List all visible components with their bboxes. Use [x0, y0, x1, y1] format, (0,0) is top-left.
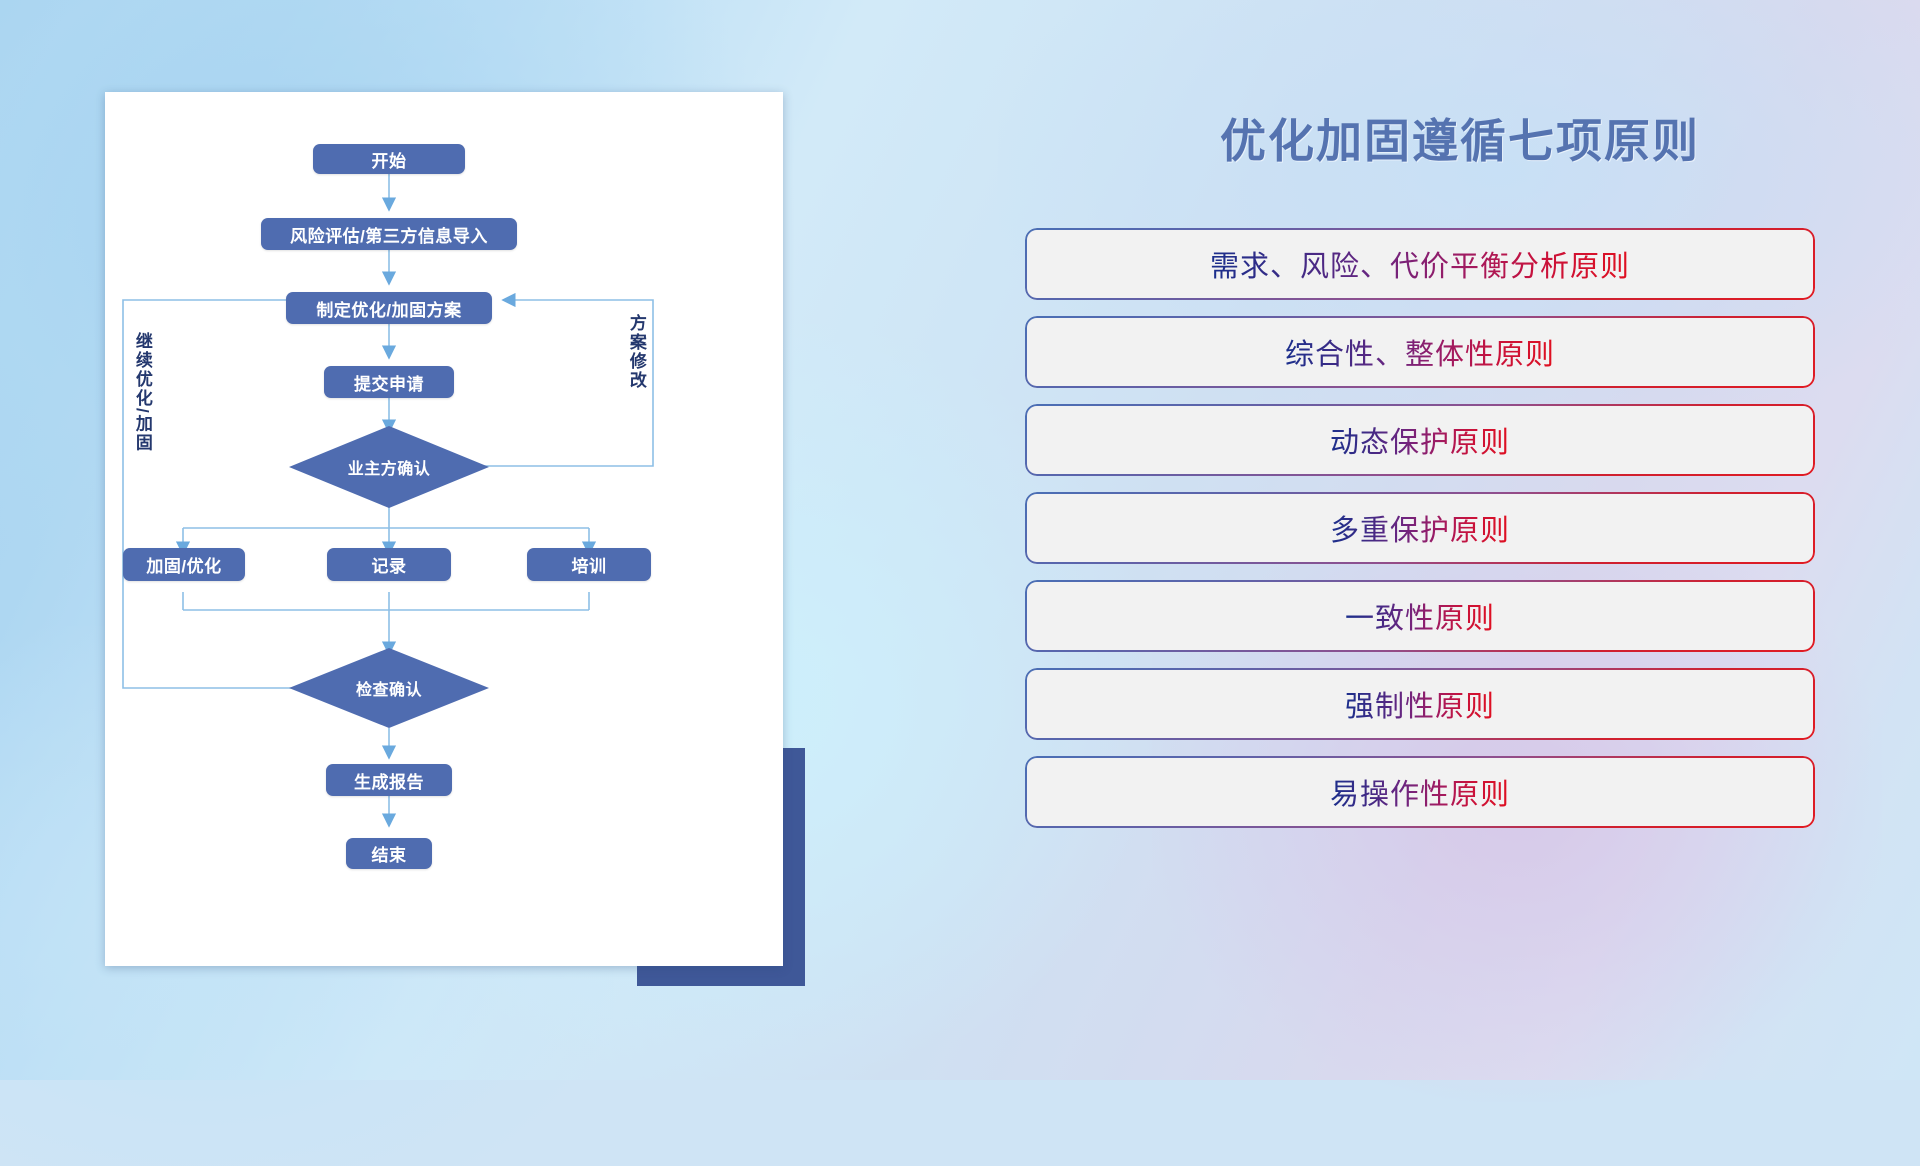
flow-node-submit-application[interactable]: 提交申请 — [324, 366, 454, 398]
flow-node-plan[interactable]: 制定优化/加固方案 — [286, 292, 492, 324]
flow-node-risk-assessment-label: 风险评估/第三方信息导入 — [290, 222, 488, 247]
flow-edge-label-plan-revision: 方案修改 — [627, 314, 645, 390]
principle-item-7-label: 易操作性原则 — [1330, 771, 1510, 813]
principle-item-5[interactable]: 一致性原则 — [1025, 580, 1815, 652]
principle-item-1-label: 需求、风险、代价平衡分析原则 — [1210, 243, 1630, 285]
flow-node-submit-application-label: 提交申请 — [354, 370, 424, 395]
principle-item-4[interactable]: 多重保护原则 — [1025, 492, 1815, 564]
principle-item-6-label: 强制性原则 — [1345, 683, 1495, 725]
flowchart-card: 开始 风险评估/第三方信息导入 制定优化/加固方案 提交申请 业主方确认 加固/… — [105, 92, 783, 966]
principle-item-2-label: 综合性、整体性原则 — [1285, 331, 1555, 373]
flow-node-training-label: 培训 — [572, 552, 607, 577]
principle-item-2[interactable]: 综合性、整体性原则 — [1025, 316, 1815, 388]
flow-node-end[interactable]: 结束 — [346, 838, 432, 869]
principle-item-3[interactable]: 动态保护原则 — [1025, 404, 1815, 476]
principles-panel: 优化加固遵循七项原则 需求、风险、代价平衡分析原则 综合性、整体性原则 动态保护… — [1020, 0, 1900, 1080]
flow-node-training[interactable]: 培训 — [527, 548, 651, 581]
principle-item-7[interactable]: 易操作性原则 — [1025, 756, 1815, 828]
flow-node-generate-report[interactable]: 生成报告 — [326, 764, 452, 796]
flow-node-harden-optimize-label: 加固/优化 — [146, 552, 221, 577]
flow-node-plan-label: 制定优化/加固方案 — [316, 296, 461, 321]
flow-node-end-label: 结束 — [372, 841, 407, 866]
principle-item-3-label: 动态保护原则 — [1330, 419, 1510, 461]
flow-node-start[interactable]: 开始 — [313, 144, 465, 174]
principle-item-1[interactable]: 需求、风险、代价平衡分析原则 — [1025, 228, 1815, 300]
flow-node-risk-assessment[interactable]: 风险评估/第三方信息导入 — [261, 218, 517, 250]
flow-node-check-confirm[interactable]: 检查确认 — [289, 648, 489, 728]
flow-node-record[interactable]: 记录 — [327, 548, 451, 581]
principle-item-6[interactable]: 强制性原则 — [1025, 668, 1815, 740]
flow-node-owner-confirm-label: 业主方确认 — [348, 455, 431, 479]
principle-item-5-label: 一致性原则 — [1345, 595, 1495, 637]
flow-node-owner-confirm[interactable]: 业主方确认 — [289, 426, 489, 508]
flow-node-record-label: 记录 — [372, 552, 407, 577]
principles-list: 需求、风险、代价平衡分析原则 综合性、整体性原则 动态保护原则 多重保护原则 一… — [1025, 228, 1815, 844]
page-title: 优化加固遵循七项原则 — [1020, 105, 1900, 171]
flow-node-start-label: 开始 — [372, 147, 407, 172]
flow-node-generate-report-label: 生成报告 — [354, 768, 424, 793]
flowchart: 开始 风险评估/第三方信息导入 制定优化/加固方案 提交申请 业主方确认 加固/… — [105, 92, 783, 966]
flow-edge-label-continue-optimize: 继续优化/加固 — [133, 332, 151, 453]
flow-node-harden-optimize[interactable]: 加固/优化 — [123, 548, 245, 581]
principle-item-4-label: 多重保护原则 — [1330, 507, 1510, 549]
flow-node-check-confirm-label: 检查确认 — [356, 676, 422, 700]
